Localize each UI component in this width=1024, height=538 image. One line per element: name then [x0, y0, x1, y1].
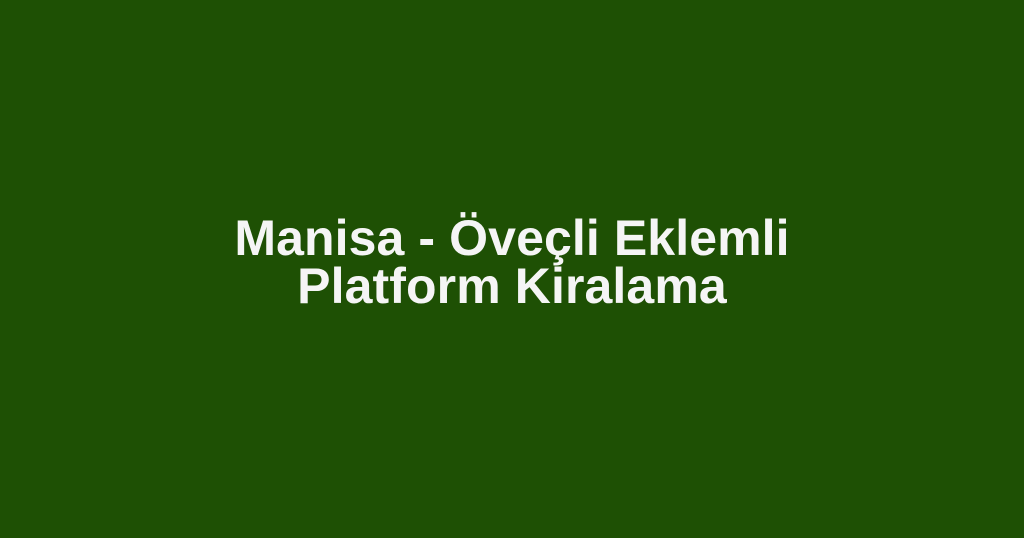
title-block: Manisa - Öveçli Eklemli Platform Kiralam…	[147, 214, 877, 310]
page-title: Manisa - Öveçli Eklemli Platform Kiralam…	[147, 214, 877, 310]
share-card-canvas: Manisa - Öveçli Eklemli Platform Kiralam…	[0, 0, 1024, 538]
